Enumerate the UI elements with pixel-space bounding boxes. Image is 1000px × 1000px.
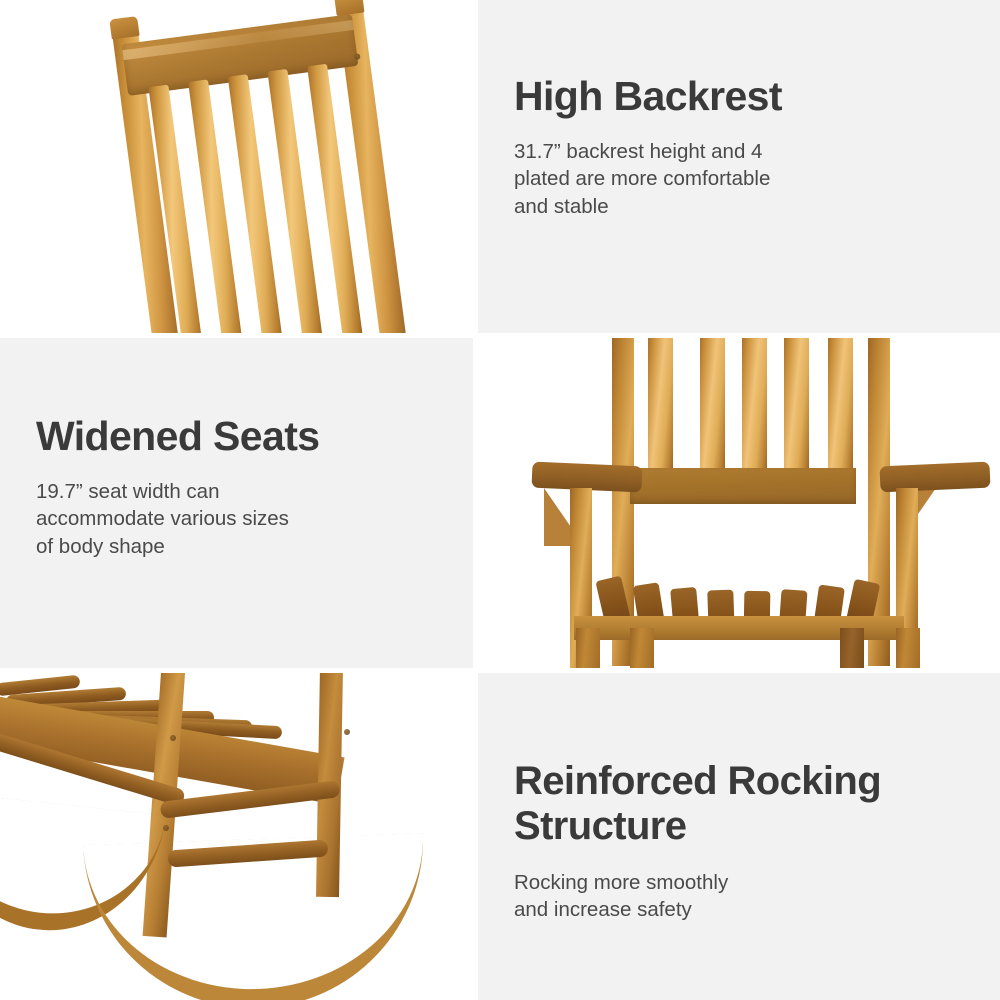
- chair-back-slat: [648, 338, 673, 476]
- rocker-body: Rocking more smoothly and increase safet…: [514, 869, 976, 924]
- grid-divider-horizontal-upper: [0, 333, 1000, 338]
- rocker-body-line: and increase safety: [514, 896, 976, 923]
- seat-body-line: 19.7” seat width can: [36, 478, 449, 505]
- seat-body-line: accommodate various sizes: [36, 505, 449, 532]
- rocker-runner-near: [83, 833, 429, 1000]
- chair-back-slat: [742, 338, 767, 476]
- seat-body: 19.7” seat width can accommodate various…: [36, 478, 449, 560]
- panel-rocker-photo: [0, 673, 473, 1000]
- panel-backrest-text: High Backrest 31.7” backrest height and …: [478, 0, 1000, 333]
- backrest-heading: High Backrest: [514, 74, 976, 120]
- backrest-body-line: plated are more comfortable: [514, 165, 976, 192]
- chair-leg: [896, 628, 920, 668]
- chair-back-slat: [784, 338, 809, 476]
- chair-back-rail: [630, 468, 856, 504]
- screw-icon: [344, 729, 350, 735]
- chair-front-illustration: [478, 338, 1000, 668]
- infographic-canvas: High Backrest 31.7” backrest height and …: [0, 0, 1000, 1000]
- screw-icon: [170, 735, 176, 741]
- screw-icon: [163, 825, 169, 831]
- panel-rocker-text: Reinforced Rocking Structure Rocking mor…: [478, 673, 1000, 1000]
- backrest-body-line: and stable: [514, 193, 976, 220]
- grid-divider-horizontal-lower: [0, 668, 1000, 673]
- panel-backrest-photo: [0, 0, 473, 333]
- rocker-heading: Reinforced Rocking Structure: [514, 759, 976, 849]
- chair-leg: [576, 628, 600, 668]
- backrest-illustration: [0, 0, 471, 333]
- rocker-heading-line: Reinforced: [514, 759, 717, 803]
- seat-text-block: Widened Seats 19.7” seat width can accom…: [36, 414, 449, 560]
- rocker-body-line: Rocking more smoothly: [514, 869, 976, 896]
- backrest-body: 31.7” backrest height and 4 plated are m…: [514, 138, 976, 220]
- chair-back-slat: [828, 338, 853, 476]
- backrest-body-line: 31.7” backrest height and 4: [514, 138, 976, 165]
- backrest-post-cap-left: [109, 16, 139, 39]
- grid-divider-vertical: [473, 0, 478, 1000]
- chair-back-slat: [700, 338, 725, 476]
- panel-seat-text: Widened Seats 19.7” seat width can accom…: [0, 338, 473, 668]
- seat-body-line: of body shape: [36, 533, 449, 560]
- chair-leg: [840, 628, 864, 668]
- chair-leg: [630, 628, 654, 668]
- seat-heading: Widened Seats: [36, 414, 449, 460]
- rocker-illustration: [0, 673, 473, 1000]
- backrest-text-block: High Backrest 31.7” backrest height and …: [514, 74, 976, 220]
- rocker-text-block: Reinforced Rocking Structure Rocking mor…: [514, 759, 976, 924]
- panel-seat-photo: [478, 338, 1000, 668]
